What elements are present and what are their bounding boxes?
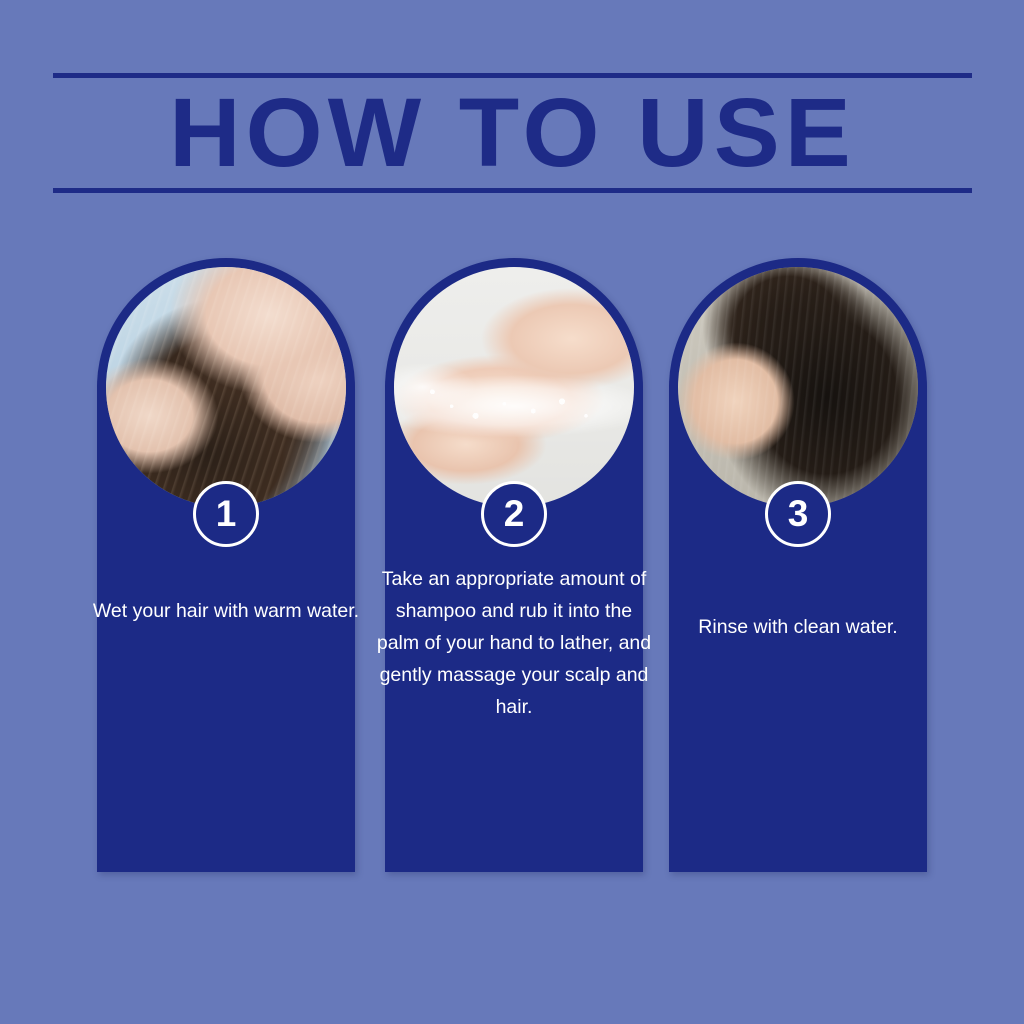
step-card-2[interactable]: 2 Take an appropriate amount of shampoo … xyxy=(385,258,643,872)
hair-wash-photo xyxy=(106,267,346,507)
step-1-caption: Wet your hair with warm water. xyxy=(88,595,364,627)
step-2-photo xyxy=(394,267,634,507)
lather-hands-photo xyxy=(394,267,634,507)
step-1-photo xyxy=(106,267,346,507)
step-card-3[interactable]: 3 Rinse with clean water. xyxy=(669,258,927,872)
step-2-number-badge: 2 xyxy=(481,481,547,547)
how-to-use-poster: HOW TO USE 1 Wet your hair with warm wat… xyxy=(0,0,1024,1024)
step-3-photo xyxy=(678,267,918,507)
step-card-1[interactable]: 1 Wet your hair with warm water. xyxy=(97,258,355,872)
step-1-number-badge: 1 xyxy=(193,481,259,547)
step-2-caption: Take an appropriate amount of shampoo an… xyxy=(376,563,652,723)
steps-row: 1 Wet your hair with warm water. 2 Take … xyxy=(0,0,1024,1024)
step-3-number-badge: 3 xyxy=(765,481,831,547)
step-3-caption: Rinse with clean water. xyxy=(660,611,936,643)
rinsed-hair-profile-photo xyxy=(678,267,918,507)
